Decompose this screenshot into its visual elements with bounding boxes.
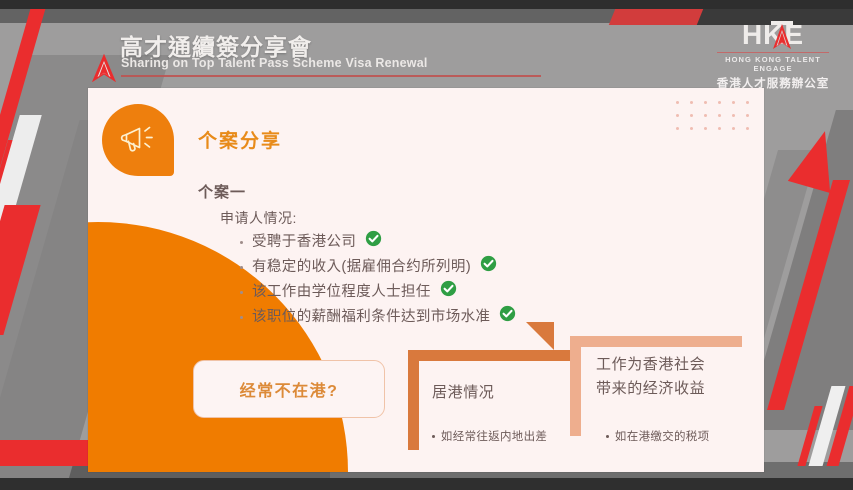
bracket-left-rail: [570, 336, 581, 436]
slide-canvas: 高才通續簽分享會 Sharing on Top Talent Pass Sche…: [0, 0, 853, 490]
hkte-logo: HKE HONG KONG TALENT ENGAGE 香港人才服務辦公室: [713, 20, 833, 91]
bracket-title-line2: 带来的经济收益: [596, 378, 705, 400]
list-item: 受聘于香港公司: [240, 230, 744, 254]
list-item-label: 该职位的薪酬福利条件达到市场水准: [252, 306, 490, 328]
bracket-economic-benefit: 工作为香港社会 带来的经济收益 如在港缴交的税项: [570, 336, 742, 436]
sub-label: 申请人情况:: [220, 208, 744, 228]
page-subtitle: Sharing on Top Talent Pass Scheme Visa R…: [121, 56, 428, 70]
question-pill-label: 经常不在港?: [240, 377, 339, 401]
list-item-label: 受聘于香港公司: [252, 231, 356, 253]
logo-subtitle-en: HONG KONG TALENT ENGAGE: [713, 55, 833, 73]
list-item: 有稳定的收入(据雇佣合约所列明): [240, 255, 744, 279]
list-item-label: 该工作由学位程度人士担任: [252, 281, 431, 303]
check-circle-icon: [499, 305, 516, 329]
bracket-bullet: 如经常往返内地出差: [432, 428, 547, 444]
case-label: 个案一: [198, 181, 744, 202]
bullet-dot-icon: [432, 435, 435, 438]
content-card: 个案分享 个案一 申请人情况: 受聘于香港公司 有稳定的收入(据雇佣合约所列明): [88, 88, 764, 472]
bracket-left-rail: [408, 350, 419, 450]
question-pill[interactable]: 经常不在港?: [193, 360, 385, 418]
bracket-title-line1: 工作为香港社会: [596, 354, 705, 376]
bullet-dot-icon: [240, 241, 243, 244]
bracket-title: 居港情况: [432, 382, 494, 404]
bracket-residence: 居港情况 如经常往返内地出差: [408, 350, 570, 450]
card-body: 个案一 申请人情况: 受聘于香港公司 有稳定的收入(据雇佣合约所列明): [198, 181, 744, 330]
bullet-dot-icon: [240, 316, 243, 319]
list-item: 该工作由学位程度人士担任: [240, 280, 744, 304]
decor-dot-grid: [670, 96, 754, 135]
list-item: 该职位的薪酬福利条件达到市场水准: [240, 305, 744, 329]
logo-wordmark-row: HKE: [713, 20, 833, 50]
letterbox-bottom: [0, 478, 853, 490]
bracket-bullet-label: 如经常往返内地出差: [441, 428, 547, 444]
title-underline: [121, 75, 541, 77]
bracket-top-rail: [570, 336, 742, 347]
megaphone-icon: [102, 104, 174, 176]
check-circle-icon: [480, 255, 497, 279]
red-arrow-logo-icon: [771, 20, 793, 55]
check-circle-icon: [365, 230, 382, 254]
bullet-dot-icon: [606, 435, 609, 438]
criteria-list: 受聘于香港公司 有稳定的收入(据雇佣合约所列明) 该工作由学位程度人士担任: [198, 230, 744, 329]
arrow-triangle-icon: [526, 322, 554, 350]
bullet-dot-icon: [240, 291, 243, 294]
bullet-dot-icon: [240, 266, 243, 269]
bracket-top-rail: [408, 350, 570, 361]
list-item-label: 有稳定的收入(据雇佣合约所列明): [252, 256, 471, 278]
bracket-bullet: 如在港缴交的税项: [606, 428, 709, 444]
red-arrow-marker-icon: [92, 54, 116, 87]
check-circle-icon: [440, 280, 457, 304]
bracket-bullet-label: 如在港缴交的税项: [615, 428, 709, 444]
card-title: 个案分享: [198, 126, 282, 153]
letterbox-top: [0, 0, 853, 9]
